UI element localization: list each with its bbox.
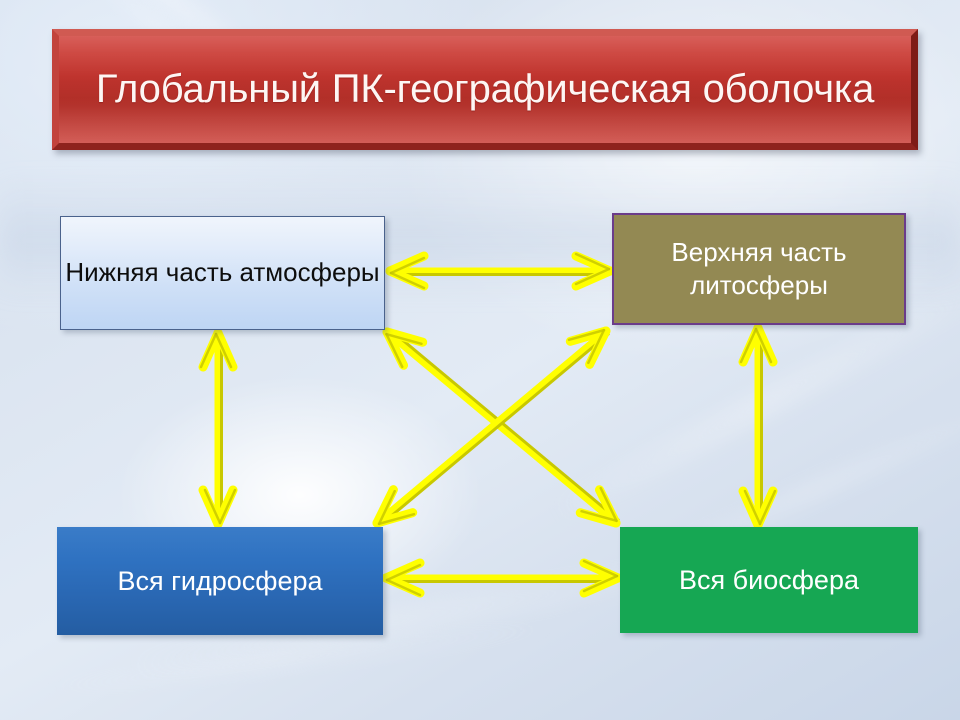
node-hydrosphere[interactable]: Вся гидросфера bbox=[57, 527, 383, 635]
node-biosphere[interactable]: Вся биосфера bbox=[620, 527, 918, 633]
node-lithosphere[interactable]: Верхняя часть литосферы bbox=[612, 213, 906, 325]
node-atmosphere-label: Нижняя часть атмосферы bbox=[65, 256, 379, 289]
title-banner: Глобальный ПК-географическая оболочка bbox=[52, 29, 918, 150]
node-hydrosphere-label: Вся гидросфера bbox=[117, 564, 322, 599]
node-biosphere-label: Вся биосфера bbox=[679, 563, 859, 598]
slide-canvas: Глобальный ПК-географическая оболочка bbox=[0, 0, 960, 720]
node-lithosphere-label: Верхняя часть литосферы bbox=[614, 236, 904, 303]
node-atmosphere[interactable]: Нижняя часть атмосферы bbox=[60, 216, 385, 330]
page-title: Глобальный ПК-географическая оболочка bbox=[59, 36, 911, 143]
